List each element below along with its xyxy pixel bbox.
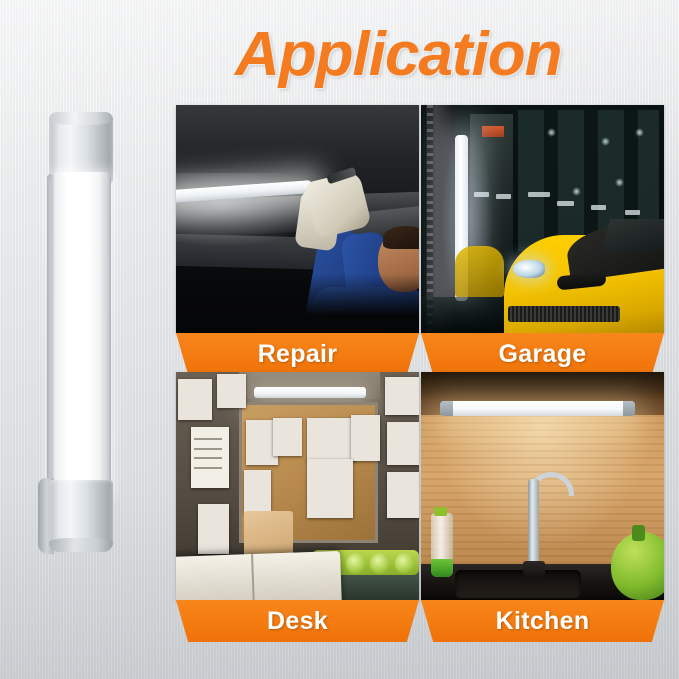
- pinned-photo: [351, 415, 380, 461]
- pinned-photo: [244, 470, 271, 513]
- power-socket: [346, 553, 365, 574]
- wall-photo: [217, 374, 246, 408]
- banner-label-repair: Repair: [258, 340, 338, 369]
- shelf-tag: [528, 192, 550, 197]
- open-book: [176, 551, 342, 600]
- product-light-body: [51, 172, 111, 500]
- page-title: Application: [235, 18, 660, 90]
- banner-kitchen: Kitchen: [421, 600, 664, 642]
- door-tag: [496, 194, 511, 199]
- wall-photo: [178, 379, 212, 420]
- garage-light-dot: [635, 128, 644, 137]
- product-seam: [47, 174, 54, 498]
- led-tube-in-scene: [254, 387, 366, 398]
- panel-garage: Garage: [421, 105, 664, 375]
- car-headlight: [513, 260, 545, 278]
- sink-basin: [455, 570, 581, 597]
- shelf-tag: [557, 201, 574, 206]
- shelf-tag: [591, 205, 606, 210]
- tube-end-cap-left: [440, 401, 452, 417]
- faucet-column: [528, 479, 539, 570]
- wall-photo: [198, 504, 230, 554]
- banner-label-garage: Garage: [499, 340, 587, 369]
- pinned-photo: [307, 418, 356, 461]
- soap-bottle-cap: [434, 507, 446, 516]
- banner-label-desk: Desk: [267, 607, 328, 636]
- photo-kitchen: [421, 372, 664, 600]
- pinned-poster: [307, 459, 353, 518]
- shelf-tag: [625, 210, 640, 215]
- garage-light-dot: [601, 137, 610, 146]
- banner-desk: Desk: [176, 600, 419, 642]
- garage-light-dot: [572, 187, 581, 196]
- scene-vignette: [176, 274, 419, 333]
- led-tube-in-scene: [440, 401, 634, 417]
- power-socket: [370, 553, 389, 574]
- car-windshield: [602, 219, 664, 251]
- car-grille: [508, 306, 620, 322]
- mechanic-hair: [383, 226, 419, 249]
- power-socket: [395, 553, 414, 574]
- wall-photo: [387, 422, 419, 465]
- pinned-note: [191, 427, 230, 489]
- panel-kitchen: Kitchen: [421, 372, 664, 642]
- green-pepper: [611, 532, 664, 600]
- product-led-tube-light: [38, 112, 124, 552]
- second-yellow-car: [455, 246, 504, 296]
- banner-label-kitchen: Kitchen: [496, 607, 590, 636]
- pepper-stem: [632, 525, 644, 541]
- photo-garage: [421, 105, 664, 333]
- panel-repair: Repair: [176, 105, 419, 375]
- photo-desk: [176, 372, 419, 600]
- tube-end-cap-right: [623, 401, 635, 417]
- product-bottom-cap: [49, 480, 113, 552]
- wall-photo: [385, 377, 419, 416]
- banner-garage: Garage: [421, 333, 664, 375]
- faucet-base: [523, 561, 545, 577]
- photo-repair: [176, 105, 419, 333]
- soap-liquid: [431, 559, 453, 577]
- pinned-photo: [273, 418, 302, 457]
- wall-photo: [387, 472, 419, 518]
- panel-desk: Desk: [176, 372, 419, 642]
- application-poster: Application Repair: [0, 0, 679, 679]
- upper-cabinet: [421, 372, 664, 399]
- banner-repair: Repair: [176, 333, 419, 375]
